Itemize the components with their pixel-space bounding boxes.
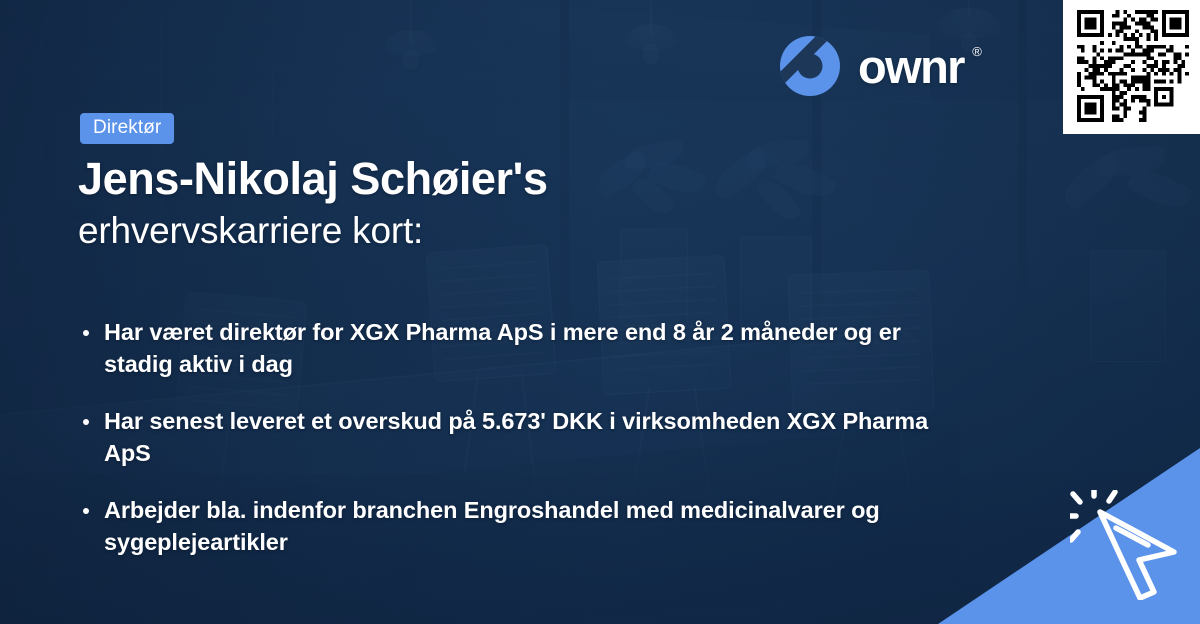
list-item: Arbejder bla. indenfor branchen Engrosha… [80, 494, 960, 559]
list-item: Har senest leveret et overskud på 5.673'… [80, 405, 960, 470]
card-content: Direktør Jens-Nikolaj Schøier's erhvervs… [0, 0, 1200, 624]
role-badge: Direktør [80, 113, 174, 144]
headline-block: Jens-Nikolaj Schøier's erhvervskarriere … [78, 155, 978, 252]
list-item: Har været direktør for XGX Pharma ApS i … [80, 316, 960, 381]
person-name-title: Jens-Nikolaj Schøier's [78, 155, 978, 204]
business-career-card: Direktør Jens-Nikolaj Schøier's erhvervs… [0, 0, 1200, 624]
headline-subtitle: erhvervskarriere kort: [78, 210, 978, 252]
qr-code-panel[interactable] [1063, 0, 1200, 134]
career-facts-list: Har været direktør for XGX Pharma ApS i … [80, 316, 960, 559]
ownr-logo[interactable]: ownr ® [778, 34, 982, 98]
ownr-wordmark: ownr [858, 40, 964, 93]
qr-code-icon[interactable] [1077, 10, 1189, 122]
ownr-circle-swoosh-icon [778, 34, 842, 98]
ownr-wordmark-container: ownr ® [858, 43, 982, 90]
registered-trademark-icon: ® [972, 45, 982, 58]
click-cursor-icon [1070, 490, 1188, 600]
